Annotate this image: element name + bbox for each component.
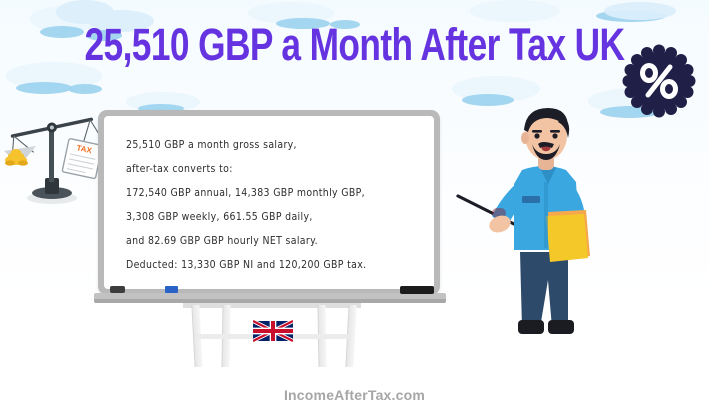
board-line: 3,308 GBP weekly, 661.55 GBP daily, [126,205,426,232]
board-line: Deducted: 13,330 GBP NI and 120,200 GBP … [126,253,426,280]
footer: IncomeAfterTax.com [0,387,709,405]
page-title: 25,510 GBP a Month After Tax UK [85,22,625,67]
board-line: 172,540 GBP annual, 14,383 GBP monthly G… [126,181,426,208]
cloud-decoration [68,84,102,94]
whiteboard-surface: 25,510 GBP a month gross salary, after-t… [104,116,434,289]
title-container: 25,510 GBP a Month After Tax UK [0,22,709,58]
whiteboard-tray-shadow [94,299,446,303]
board-line: 25,510 GBP a month gross salary, [126,133,426,160]
teacher-illustration [452,104,632,354]
whiteboard-text: 25,510 GBP a month gross salary, after-t… [126,134,426,278]
balance-scale-illustration: TAX [2,108,102,208]
blue-marker-icon [165,286,178,293]
cloud-decoration [16,82,72,94]
stand-top-bar [183,303,361,308]
whiteboard: 25,510 GBP a month gross salary, after-t… [98,110,440,295]
folder-icon [546,210,590,262]
uk-flag [253,320,293,342]
board-line: and 82.69 GBP GBP hourly NET salary. [126,229,426,256]
board-eraser-icon [400,286,434,294]
board-line: after-tax converts to: [126,157,426,184]
site-name: IncomeAfterTax.com [284,387,425,403]
poster-canvas: 25,510 GBP a Month After Tax UK [0,0,709,419]
eraser-icon [110,286,125,293]
percent-badge-icon [622,44,696,118]
